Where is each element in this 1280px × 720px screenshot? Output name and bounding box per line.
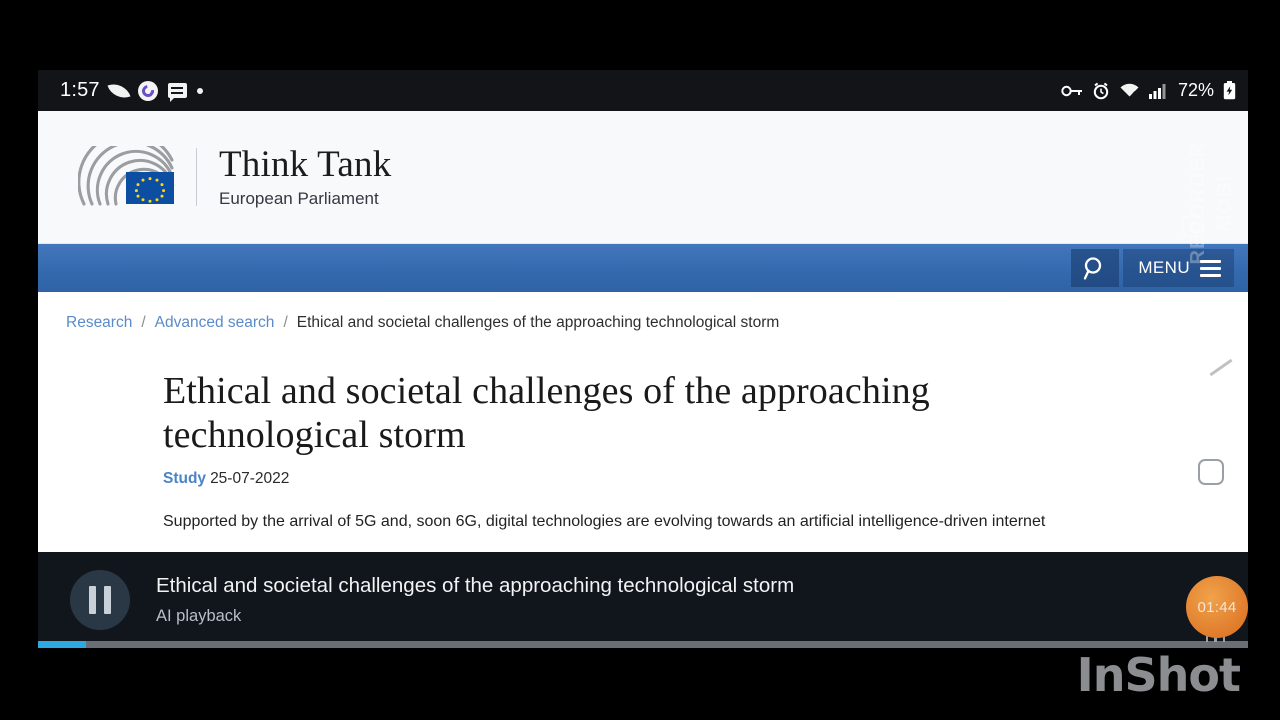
article-content: Ethical and societal challenges of the a… [38, 332, 1248, 535]
site-title: Think Tank [219, 145, 391, 185]
breadcrumb-item-advanced-search[interactable]: Advanced search [155, 314, 275, 332]
playback-progress-fill [38, 641, 86, 648]
search-button[interactable] [1071, 249, 1119, 287]
breadcrumb-separator: / [141, 314, 145, 332]
dot-icon [197, 88, 203, 94]
logo-divider [196, 148, 197, 206]
battery-icon [1223, 81, 1236, 100]
audio-playback-bar: Ethical and societal challenges of the a… [38, 552, 1248, 648]
vpn-key-icon [1061, 83, 1083, 99]
breadcrumb-item-research[interactable]: Research [66, 314, 132, 332]
loading-circle-icon [138, 81, 158, 101]
browser-page: Think Tank European Parliament MENU [38, 111, 1248, 648]
leaf-icon [107, 79, 130, 102]
document-type-badge: Study [163, 470, 206, 487]
status-bar-clock: 1:57 [60, 79, 100, 102]
menu-button[interactable]: MENU [1123, 249, 1234, 287]
phone-screen: 1:57 [38, 70, 1248, 648]
video-frame: 1:57 [0, 0, 1280, 720]
european-parliament-logo-icon [78, 146, 178, 208]
android-status-bar: 1:57 [38, 70, 1248, 111]
playback-text: Ethical and societal challenges of the a… [156, 574, 1182, 627]
playback-progress-bar[interactable] [38, 641, 1248, 648]
site-logo[interactable]: Think Tank European Parliament [78, 145, 391, 210]
menu-button-label: MENU [1138, 258, 1190, 278]
recording-timer-label: 01:44 [1197, 599, 1236, 616]
article-body-text: Supported by the arrival of 5G and, soon… [163, 510, 1088, 535]
site-subtitle: European Parliament [219, 189, 391, 209]
playback-title: Ethical and societal challenges of the a… [156, 574, 1182, 599]
site-navbar: MENU [38, 244, 1248, 292]
publish-date: 25-07-2022 [210, 470, 289, 487]
search-icon [1082, 255, 1108, 281]
hamburger-icon [1200, 260, 1221, 277]
inshot-watermark: InShot [1077, 648, 1240, 702]
article-meta: Study25-07-2022 [163, 470, 1248, 488]
pause-button[interactable] [70, 570, 130, 630]
wifi-icon [1119, 82, 1140, 99]
battery-percent-label: 72% [1178, 80, 1214, 101]
status-bar-right: 72% [1061, 80, 1236, 101]
playback-subtitle: AI playback [156, 607, 1182, 626]
breadcrumb: Research / Advanced search / Ethical and… [38, 292, 1248, 332]
breadcrumb-item-current: Ethical and societal challenges of the a… [297, 314, 780, 332]
signal-icon [1149, 83, 1167, 99]
pause-icon [89, 586, 111, 614]
recording-timer-bubble[interactable]: 01:44 [1186, 576, 1248, 638]
alarm-icon [1092, 82, 1110, 100]
site-header: Think Tank European Parliament [38, 111, 1248, 244]
page-title: Ethical and societal challenges of the a… [163, 370, 1033, 457]
status-bar-left: 1:57 [60, 79, 203, 102]
breadcrumb-separator: / [283, 314, 287, 332]
chat-icon [168, 83, 187, 98]
